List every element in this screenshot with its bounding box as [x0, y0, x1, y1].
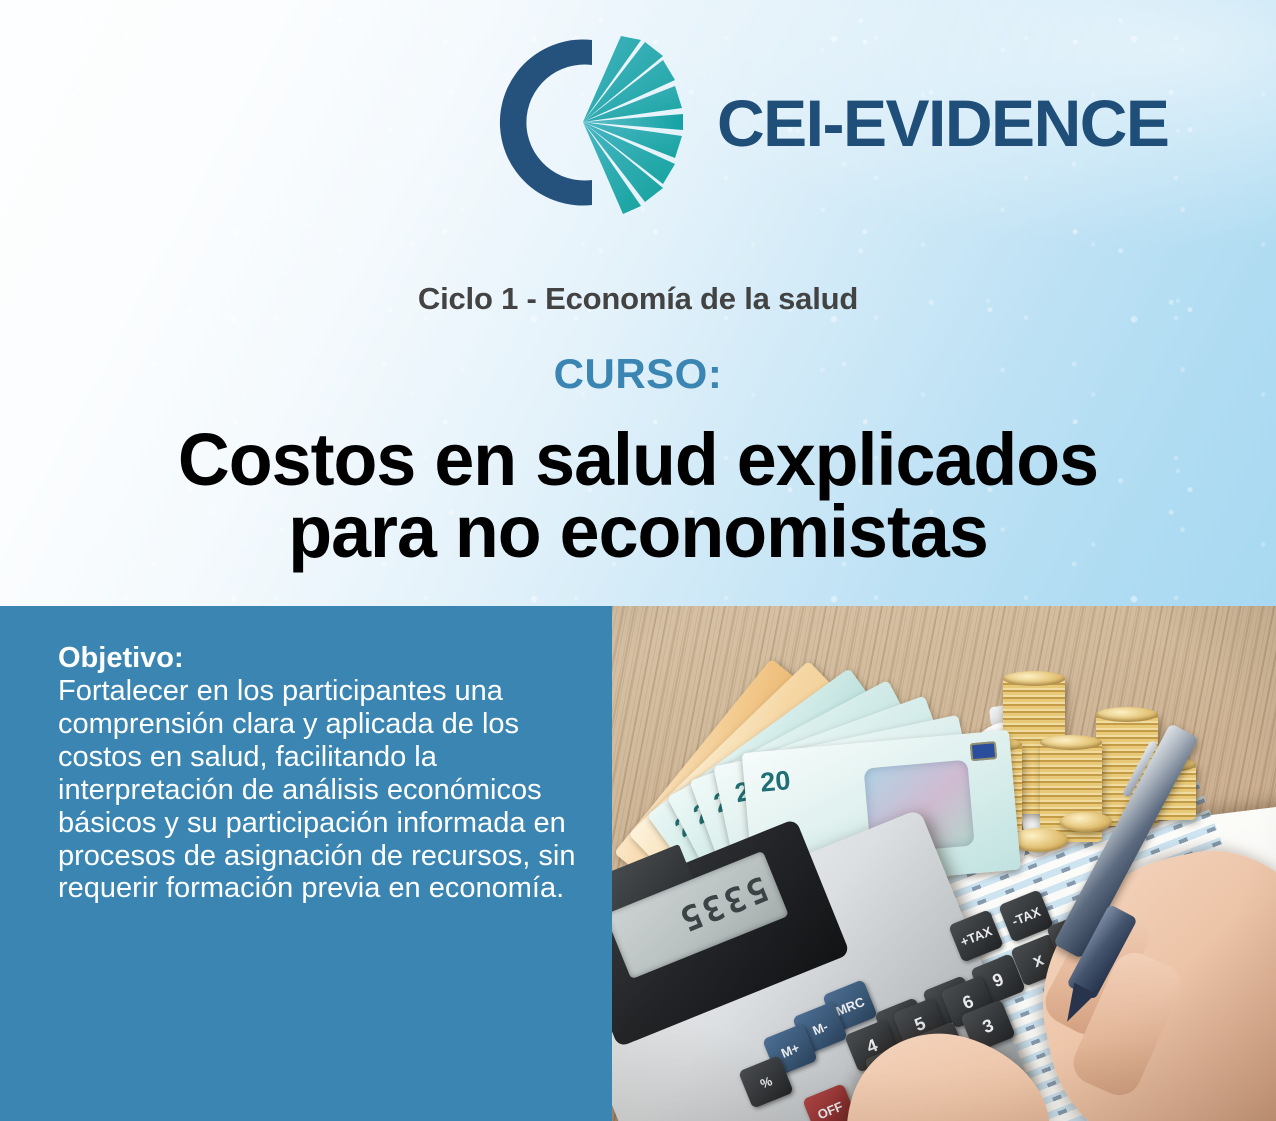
- cycle-subtitle: Ciclo 1 - Economía de la salud: [0, 281, 1276, 317]
- page-title-line-1: Costos en salud explicados: [19, 424, 1257, 496]
- course-poster: CEI-EVIDENCE Ciclo 1 - Economía de la sa…: [0, 0, 1276, 1121]
- coin-top: [1003, 671, 1065, 686]
- coin-top: [1040, 735, 1102, 750]
- page-title: Costos en salud explicados para no econo…: [19, 424, 1257, 568]
- objective-label: Objetivo:: [58, 642, 578, 675]
- coin-top: [1096, 707, 1158, 722]
- eu-flag-icon: [970, 741, 997, 761]
- brand-wordmark: CEI-EVIDENCE: [717, 85, 1168, 161]
- course-kicker: CURSO:: [0, 350, 1276, 398]
- course-photo: 50 EURO 50 EURO 20 20 20 20 20 5335 MR: [612, 606, 1276, 1121]
- page-title-line-2: para no economistas: [19, 496, 1257, 568]
- banknote-denomination: 20: [759, 765, 792, 799]
- objective-text: Fortalecer en los participantes una comp…: [58, 675, 578, 905]
- brand-logo-lockup: CEI-EVIDENCE: [495, 30, 1225, 215]
- objective-panel: Objetivo: Fortalecer en los participante…: [0, 606, 612, 1121]
- cei-evidence-fan-logo-icon: [495, 30, 695, 215]
- loose-coin: [1060, 812, 1112, 832]
